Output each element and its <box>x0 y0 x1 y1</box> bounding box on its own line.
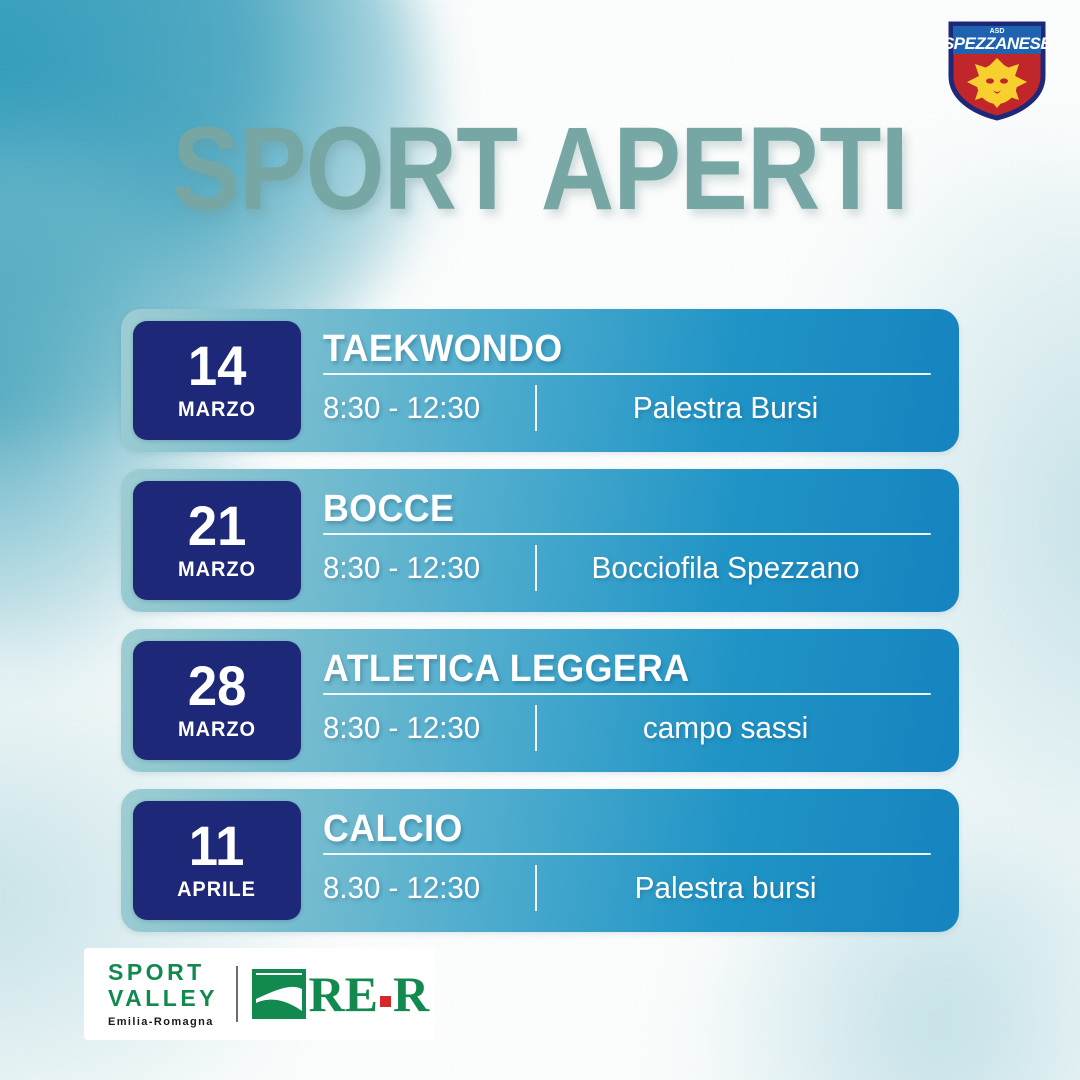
event-details: TAEKWONDO 8:30 - 12:30 Palestra Bursi <box>301 330 959 432</box>
event-meta-row: 8:30 - 12:30 Bocciofila Spezzano <box>323 545 931 591</box>
event-time: 8.30 - 12:30 <box>323 870 524 906</box>
date-day: 21 <box>188 499 247 553</box>
date-day: 14 <box>188 339 247 393</box>
event-venue: Bocciofila Spezzano <box>555 550 924 586</box>
rer-wordmark: RE R <box>309 969 430 1019</box>
vertical-separator <box>535 385 537 431</box>
asd-spezzanese-crest: ASD SPEZZANESE <box>941 18 1053 122</box>
rer-logo: RE R <box>252 969 430 1019</box>
event-time: 8:30 - 12:30 <box>323 390 524 426</box>
date-badge: 28 MARZO <box>133 641 301 760</box>
event-card[interactable]: 21 MARZO BOCCE 8:30 - 12:30 Bocciofila S… <box>121 469 959 612</box>
date-badge: 14 MARZO <box>133 321 301 440</box>
sponsor-logos: SPORT VALLEY Emilia-Romagna RE R <box>84 948 435 1040</box>
sport-valley-region: Emilia-Romagna <box>108 1017 218 1028</box>
divider-line <box>323 533 931 535</box>
date-month: MARZO <box>178 398 256 422</box>
event-meta-row: 8.30 - 12:30 Palestra bursi <box>323 865 931 911</box>
event-venue: campo sassi <box>555 710 924 746</box>
logo-divider <box>236 966 238 1022</box>
date-badge: 21 MARZO <box>133 481 301 600</box>
vertical-separator <box>535 545 537 591</box>
sport-valley-line1: SPORT <box>108 961 218 984</box>
sport-valley-logo: SPORT VALLEY Emilia-Romagna <box>84 961 218 1028</box>
crest-club-name: SPEZZANESE <box>943 34 1053 53</box>
sport-valley-line2: VALLEY <box>108 987 218 1010</box>
divider-line <box>323 853 931 855</box>
event-sport-name: TAEKWONDO <box>323 330 895 369</box>
date-day: 11 <box>189 819 245 873</box>
event-card[interactable]: 28 MARZO ATLETICA LEGGERA 8:30 - 12:30 c… <box>121 629 959 772</box>
rer-text-right: R <box>393 969 429 1019</box>
event-sport-name: ATLETICA LEGGERA <box>323 650 895 689</box>
event-time: 8:30 - 12:30 <box>323 550 524 586</box>
event-card[interactable]: 14 MARZO TAEKWONDO 8:30 - 12:30 Palestra… <box>121 309 959 452</box>
divider-line <box>323 373 931 375</box>
date-month: MARZO <box>178 558 256 582</box>
divider-line <box>323 693 931 695</box>
vertical-separator <box>535 705 537 751</box>
date-month: MARZO <box>178 718 256 742</box>
rer-flag-icon <box>252 969 306 1019</box>
rer-text-left: RE <box>309 969 378 1019</box>
vertical-separator <box>535 865 537 911</box>
date-month: APRILE <box>178 878 257 902</box>
rer-red-dot-icon <box>380 996 391 1007</box>
event-meta-row: 8:30 - 12:30 campo sassi <box>323 705 931 751</box>
event-venue: Palestra Bursi <box>555 390 924 426</box>
event-card[interactable]: 11 APRILE CALCIO 8.30 - 12:30 Palestra b… <box>121 789 959 932</box>
date-badge: 11 APRILE <box>133 801 301 920</box>
event-meta-row: 8:30 - 12:30 Palestra Bursi <box>323 385 931 431</box>
event-details: ATLETICA LEGGERA 8:30 - 12:30 campo sass… <box>301 650 959 752</box>
date-day: 28 <box>188 659 247 713</box>
page-title: SPORT APERTI <box>76 110 1005 228</box>
event-list: 14 MARZO TAEKWONDO 8:30 - 12:30 Palestra… <box>121 309 959 932</box>
event-time: 8:30 - 12:30 <box>323 710 524 746</box>
event-venue: Palestra bursi <box>555 870 924 906</box>
event-details: BOCCE 8:30 - 12:30 Bocciofila Spezzano <box>301 490 959 592</box>
event-details: CALCIO 8.30 - 12:30 Palestra bursi <box>301 810 959 912</box>
event-sport-name: BOCCE <box>323 490 895 529</box>
poster-canvas: ASD SPEZZANESE SPORT APERTI 14 MARZO TAE… <box>0 0 1080 1080</box>
event-sport-name: CALCIO <box>323 810 895 849</box>
